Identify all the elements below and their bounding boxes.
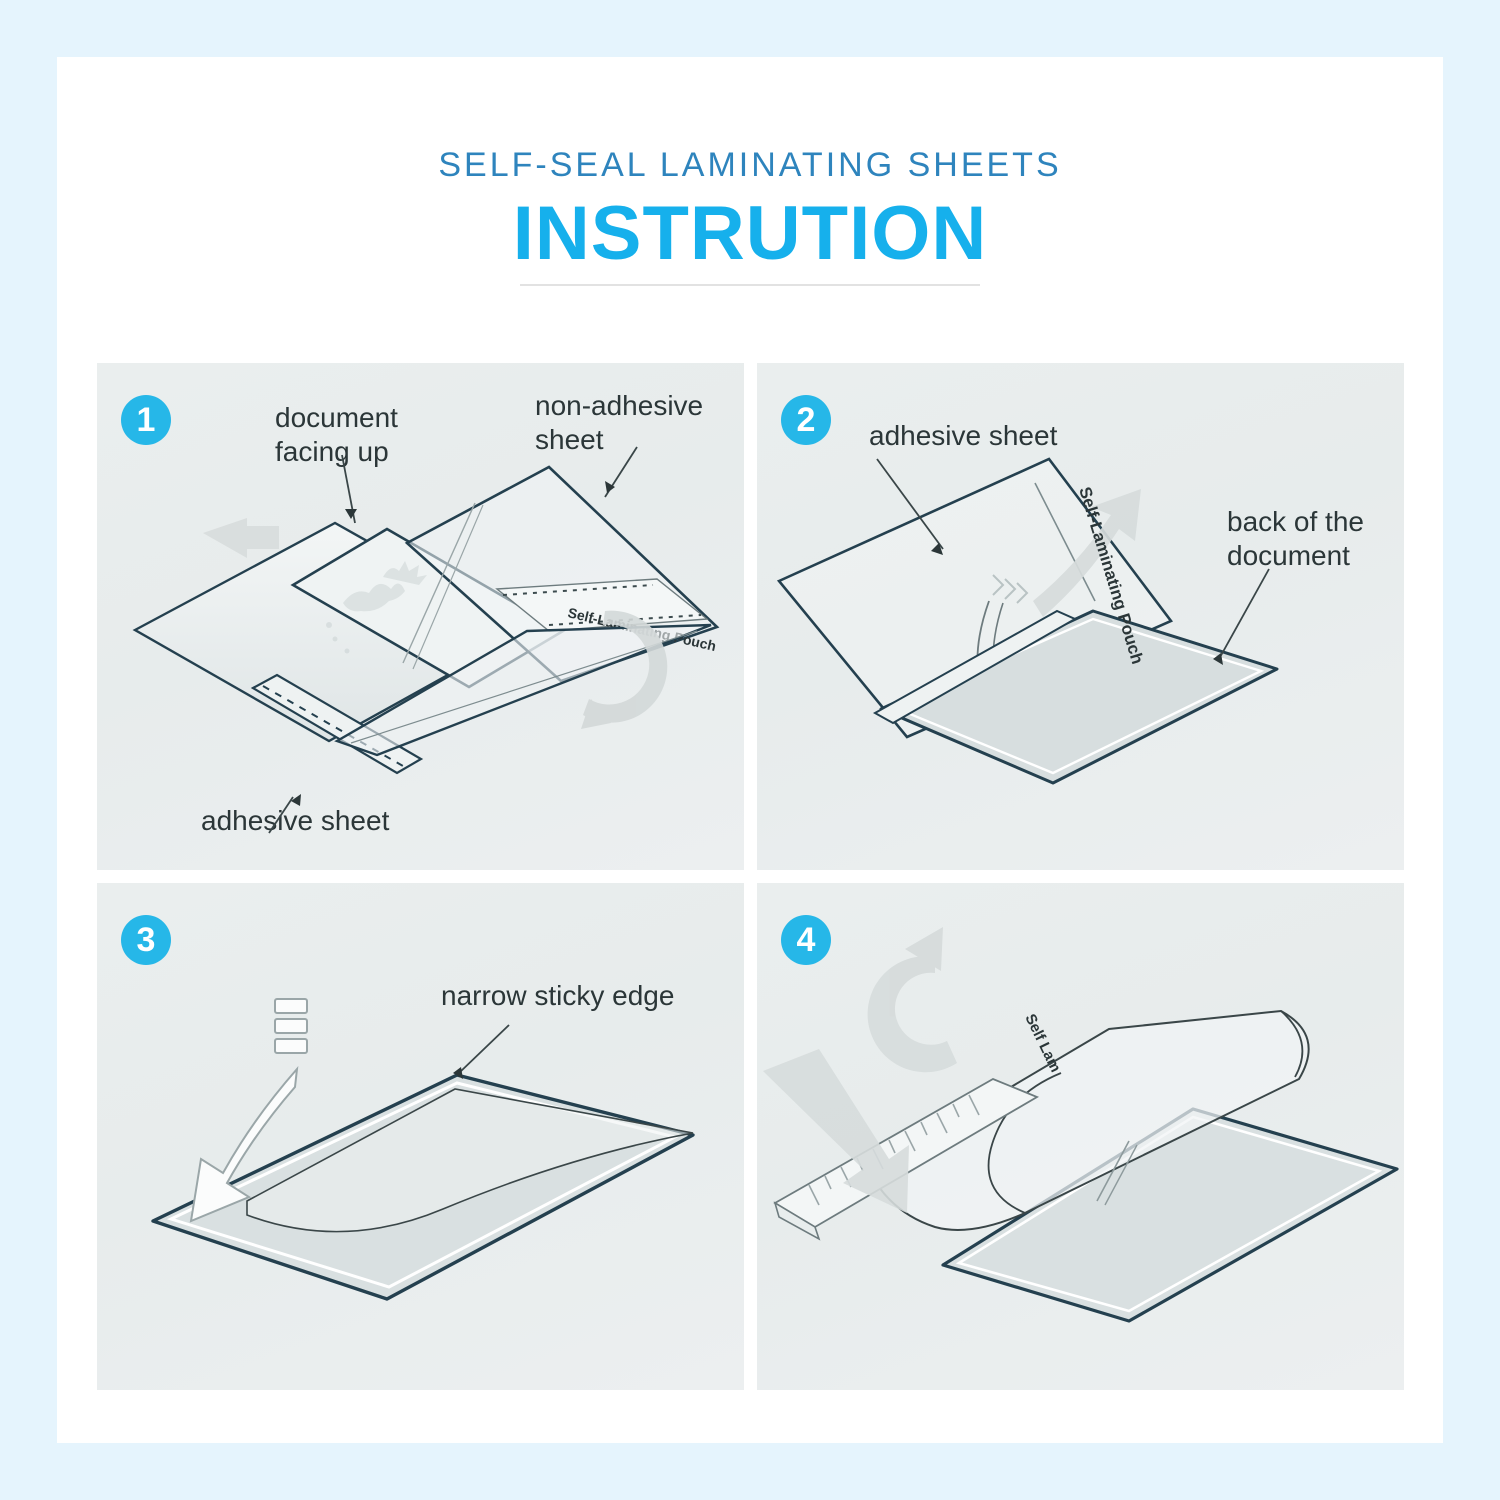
header: SELF-SEAL LAMINATING SHEETS INSTRUTION (57, 57, 1443, 357)
step-number-badge: 1 (121, 395, 171, 445)
label-narrow-sticky-edge: narrow sticky edge (441, 979, 674, 1013)
step-number-badge: 2 (781, 395, 831, 445)
label-adhesive-sheet: adhesive sheet (201, 804, 389, 838)
step-panel-4: Self Lam 4 (757, 883, 1404, 1390)
rotate-arrow-icon (868, 927, 957, 1072)
step-panel-1: Self-Laminating Pouch 1 document facing … (97, 363, 744, 870)
step-4-illustration: Self Lam (757, 883, 1404, 1390)
label-adhesive-sheet: adhesive sheet (869, 419, 1057, 453)
step-panel-2: Self-Laminating Pouch 2 adhesive sheet b… (757, 363, 1404, 870)
page-frame: SELF-SEAL LAMINATING SHEETS INSTRUTION (57, 57, 1443, 1443)
label-non-adhesive-sheet: non-adhesive sheet (535, 389, 703, 457)
step-number-badge: 3 (121, 915, 171, 965)
steps-grid: Self-Laminating Pouch 1 document facing … (97, 363, 1404, 1390)
pouch-inline-text: Self Lam (1021, 1011, 1064, 1075)
push-arrow-icon (203, 518, 279, 558)
title-divider (520, 284, 980, 286)
subtitle: SELF-SEAL LAMINATING SHEETS (57, 146, 1443, 185)
step-number-badge: 4 (781, 915, 831, 965)
step-2-illustration: Self-Laminating Pouch (757, 363, 1404, 870)
label-back-of-document: back of the document (1227, 505, 1364, 573)
step-3-illustration (97, 883, 744, 1390)
page-title: INSTRUTION (57, 190, 1443, 277)
label-document-facing-up: document facing up (275, 401, 398, 469)
step-panel-3: 3 narrow sticky edge (97, 883, 744, 1390)
